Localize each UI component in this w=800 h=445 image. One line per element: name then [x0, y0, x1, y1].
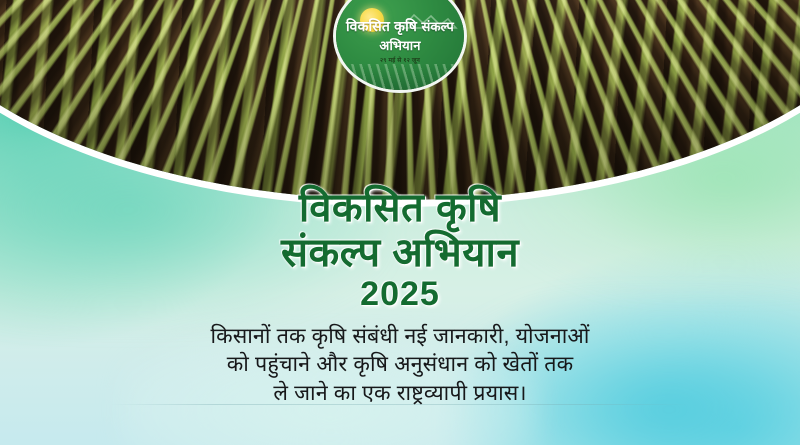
logo-date-band: २९ मई से १२ जून — [336, 56, 464, 64]
logo-text-block: विकसित कृषि संकल्प अभियान — [336, 18, 464, 56]
headline-year: 2025 — [0, 277, 800, 312]
logo-line-1: विकसित कृषि — [346, 18, 417, 34]
page-title: विकसित कृषि संकल्प अभियान 2025 — [0, 188, 800, 313]
headline-line-1: विकसित कृषि — [0, 188, 800, 230]
campaign-logo: विकसित कृषि संकल्प अभियान २९ मई से १२ जू… — [336, 0, 464, 90]
subtitle-line-3: ले जाने का एक राष्ट्रव्यापी प्रयास। — [56, 379, 744, 407]
logo-field-lines — [336, 64, 464, 90]
subtitle-text: किसानों तक कृषि संबंधी नई जानकारी, योजना… — [56, 322, 744, 407]
subtitle-line-1: किसानों तक कृषि संबंधी नई जानकारी, योजना… — [56, 322, 744, 350]
subtitle-line-2: को पहुंचाने और कृषि अनुसंधान को खेतों तक — [56, 350, 744, 378]
headline-line-2: संकल्प अभियान — [0, 233, 800, 275]
campaign-poster: विकसित कृषि संकल्प अभियान २९ मई से १२ जू… — [0, 0, 800, 445]
